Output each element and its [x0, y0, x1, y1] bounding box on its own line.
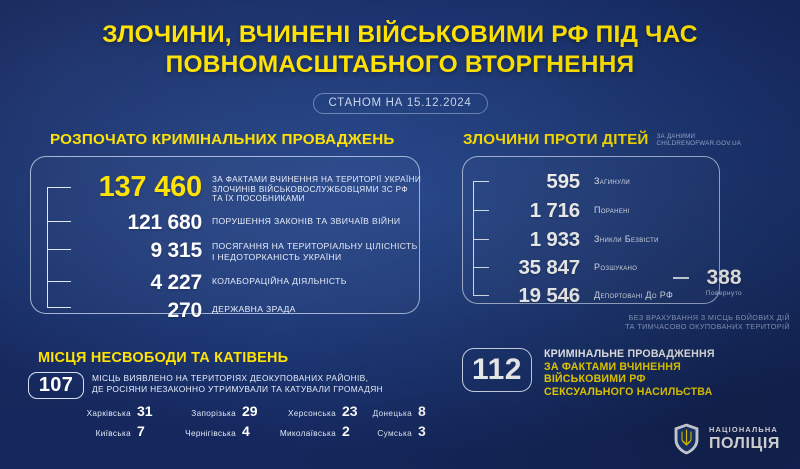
police-emblem-icon — [673, 423, 700, 455]
region-value: 2 — [342, 424, 358, 438]
bracket-tick-right-4 — [473, 267, 489, 268]
bracket-tick-right-3 — [473, 239, 489, 240]
children-footnote-line: БЕЗ ВРАХУВАННЯ З МІСЦЬ БОЙОВИХ ДІЙ — [520, 313, 790, 322]
children-row: 1 933 Зникли безвісти — [490, 230, 659, 251]
logo-line-1: НАЦІОНАЛЬНА — [709, 426, 780, 433]
children-value: 595 — [490, 172, 580, 193]
region-item: Херсонська 23 — [258, 404, 358, 418]
bracket-tick-left-4 — [47, 281, 71, 282]
region-name: Сумська — [377, 429, 412, 438]
section-heading-children: ЗЛОЧИНИ ПРОТИ ДІТЕЙЗА ДАНИМИCHILDRENOFWA… — [463, 131, 741, 148]
proceedings-label-line: ТА ЇХ ПОСОБНИКАМИ — [212, 194, 421, 204]
region-name: Харківська — [87, 409, 131, 418]
children-row: 19 546 Депортовані до РФ — [490, 286, 673, 307]
children-label: Розшукано — [594, 262, 637, 273]
region-item: Сумська 3 — [358, 424, 434, 438]
region-value: 4 — [242, 424, 258, 438]
proceedings-value: 270 — [76, 300, 202, 321]
returned-value: 388 — [694, 267, 754, 288]
region-value: 8 — [418, 404, 434, 418]
infographic-root: ЗЛОЧИНИ, ВЧИНЕНІ ВІЙСЬКОВИМИ РФ ПІД ЧАС … — [0, 0, 800, 469]
sexual-violence-line: СЕКСУАЛЬНОГО НАСИЛЬСТВА — [544, 386, 794, 399]
children-source-line: ЗА ДАНИМИ — [657, 133, 742, 140]
detention-description: МІСЦЬ ВИЯВЛЕНО НА ТЕРИТОРІЯХ ДЕОКУПОВАНИ… — [92, 373, 432, 396]
children-source-line: CHILDRENOFWAR.GOV.UA — [657, 140, 742, 147]
page-title: ЗЛОЧИНИ, ВЧИНЕНІ ВІЙСЬКОВИМИ РФ ПІД ЧАС … — [0, 20, 800, 80]
date-badge-wrap: СТАНОМ НА 15.12.2024 — [0, 93, 800, 114]
region-name: Чернігівська — [185, 429, 236, 438]
logo-line-2: ПОЛІЦІЯ — [709, 436, 780, 452]
proceedings-value: 137 460 — [76, 173, 202, 202]
regions-table: Харківська 31 Запорізька 29 Херсонська 2… — [28, 404, 434, 444]
children-label: Поранені — [594, 205, 630, 216]
sexual-violence-count-badge: 112 — [462, 348, 532, 392]
children-value: 1 716 — [490, 201, 580, 222]
proceedings-label-line: КОЛАБОРАЦІЙНА ДІЯЛЬНІСТЬ — [212, 276, 347, 287]
proceedings-row: 121 680 ПОРУШЕННЯ ЗАКОНІВ ТА ЗВИЧАЇВ ВІЙ… — [76, 212, 400, 233]
section-heading-detention: МІСЦЯ НЕСВОБОДИ ТА КАТІВЕНЬ — [38, 350, 288, 366]
children-value: 19 546 — [490, 286, 580, 307]
region-name: Херсонська — [288, 409, 336, 418]
proceedings-label-line: ПОРУШЕННЯ ЗАКОНІВ ТА ЗВИЧАЇВ ВІЙНИ — [212, 216, 400, 227]
bracket-tick-left-1 — [47, 187, 71, 188]
region-item: Київська 7 — [28, 424, 153, 438]
region-name: Донецька — [373, 409, 412, 418]
children-label: Загинули — [594, 176, 630, 187]
proceedings-label: ПОРУШЕННЯ ЗАКОНІВ ТА ЗВИЧАЇВ ВІЙНИ — [212, 216, 400, 227]
title-line-2: ПОВНОМАСШТАБНОГО ВТОРГНЕННЯ — [0, 50, 800, 80]
detention-description-line: МІСЦЬ ВИЯВЛЕНО НА ТЕРИТОРІЯХ ДЕОКУПОВАНИ… — [92, 373, 432, 384]
region-item: Чернігівська 4 — [153, 424, 258, 438]
children-label: Депортовані до РФ — [594, 290, 673, 301]
proceedings-label: ДЕРЖАВНА ЗРАДА — [212, 304, 296, 315]
bracket-tick-left-5 — [47, 307, 71, 308]
region-item: Запорізька 29 — [153, 404, 258, 418]
returned-label: Повернуто — [694, 290, 754, 297]
proceedings-label-line: І НЕДОТОРКАНІСТЬ УКРАЇНИ — [212, 252, 418, 263]
proceedings-value: 121 680 — [76, 212, 202, 233]
children-heading-text: ЗЛОЧИНИ ПРОТИ ДІТЕЙ — [463, 131, 649, 148]
logo-text: НАЦІОНАЛЬНА ПОЛІЦІЯ — [709, 426, 780, 451]
bracket-tick-right-2 — [473, 210, 489, 211]
proceedings-row: 9 315 ПОСЯГАННЯ НА ТЕРИТОРІАЛЬНУ ЦІЛІСНІ… — [76, 240, 418, 262]
proceedings-row: 4 227 КОЛАБОРАЦІЙНА ДІЯЛЬНІСТЬ — [76, 272, 347, 293]
region-value: 31 — [137, 404, 153, 418]
sexual-violence-line: КРИМІНАЛЬНЕ ПРОВАДЖЕННЯ — [544, 348, 794, 361]
children-row: 35 847 Розшукано — [490, 258, 637, 279]
sexual-violence-line: ЗА ФАКТАМИ ВЧИНЕННЯ — [544, 361, 794, 374]
proceedings-label-line: ЗА ФАКТАМИ ВЧИНЕННЯ НА ТЕРИТОРІЇ УКРАЇНИ — [212, 175, 421, 185]
children-value: 35 847 — [490, 258, 580, 279]
proceedings-value: 9 315 — [76, 240, 202, 261]
proceedings-row: 137 460 ЗА ФАКТАМИ ВЧИНЕННЯ НА ТЕРИТОРІЇ… — [76, 173, 421, 204]
proceedings-label-line: ПОСЯГАННЯ НА ТЕРИТОРІАЛЬНУ ЦІЛІСНІСТЬ — [212, 241, 418, 252]
proceedings-label: ЗА ФАКТАМИ ВЧИНЕННЯ НА ТЕРИТОРІЇ УКРАЇНИ… — [212, 175, 421, 204]
children-value: 1 933 — [490, 230, 580, 251]
region-value: 29 — [242, 404, 258, 418]
regions-row: Київська 7 Чернігівська 4 Миколаївська 2… — [28, 424, 434, 444]
children-footnote: БЕЗ ВРАХУВАННЯ З МІСЦЬ БОЙОВИХ ДІЙ ТА ТИ… — [520, 313, 790, 332]
children-footnote-line: ТА ТИМЧАСОВО ОКУПОВАНИХ ТЕРИТОРІЙ — [520, 322, 790, 331]
proceedings-value: 4 227 — [76, 272, 202, 293]
section-heading-proceedings: РОЗПОЧАТО КРИМІНАЛЬНИХ ПРОВАДЖЕНЬ — [50, 131, 394, 148]
national-police-logo: НАЦІОНАЛЬНА ПОЛІЦІЯ — [673, 423, 780, 455]
children-row: 595 Загинули — [490, 172, 630, 193]
bracket-tick-right-5 — [473, 295, 489, 296]
proceedings-label: ПОСЯГАННЯ НА ТЕРИТОРІАЛЬНУ ЦІЛІСНІСТЬ І … — [212, 241, 418, 262]
region-item: Харківська 31 — [28, 404, 153, 418]
bracket-tick-left-2 — [47, 221, 71, 222]
region-name: Запорізька — [191, 409, 236, 418]
date-badge: СТАНОМ НА 15.12.2024 — [313, 93, 488, 114]
proceedings-label-line: ЗЛОЧИНІВ ВІЙСЬКОВОСЛУЖБОВЦЯМИ ЗС РФ — [212, 185, 421, 195]
children-row: 1 716 Поранені — [490, 201, 630, 222]
title-line-1: ЗЛОЧИНИ, ВЧИНЕНІ ВІЙСЬКОВИМИ РФ ПІД ЧАС — [102, 21, 697, 48]
bracket-tick-left-3 — [47, 249, 71, 250]
region-item: Миколаївська 2 — [258, 424, 358, 438]
children-label: Зникли безвісти — [594, 234, 659, 245]
region-item: Донецька 8 — [358, 404, 434, 418]
detention-count-badge: 107 — [28, 372, 84, 399]
region-name: Київська — [96, 429, 131, 438]
regions-row: Харківська 31 Запорізька 29 Херсонська 2… — [28, 404, 434, 424]
region-value: 3 — [418, 424, 434, 438]
bracket-tick-right-1 — [473, 181, 489, 182]
proceedings-label-line: ДЕРЖАВНА ЗРАДА — [212, 304, 296, 315]
sexual-violence-line: ВІЙСЬКОВИМИ РФ — [544, 373, 794, 386]
proceedings-label: КОЛАБОРАЦІЙНА ДІЯЛЬНІСТЬ — [212, 276, 347, 287]
returned-children-callout: 388 Повернуто — [694, 267, 754, 297]
sexual-violence-description: КРИМІНАЛЬНЕ ПРОВАДЖЕННЯ ЗА ФАКТАМИ ВЧИНЕ… — [544, 348, 794, 398]
proceedings-row: 270 ДЕРЖАВНА ЗРАДА — [76, 300, 296, 321]
region-name: Миколаївська — [280, 429, 336, 438]
region-value: 7 — [137, 424, 153, 438]
detention-description-line: ДЕ РОСІЯНИ НЕЗАКОННО УТРИМУВАЛИ ТА КАТУВ… — [92, 384, 432, 395]
returned-connector — [673, 277, 689, 279]
children-source-note: ЗА ДАНИМИCHILDRENOFWAR.GOV.UA — [657, 133, 742, 148]
region-value: 23 — [342, 404, 358, 418]
